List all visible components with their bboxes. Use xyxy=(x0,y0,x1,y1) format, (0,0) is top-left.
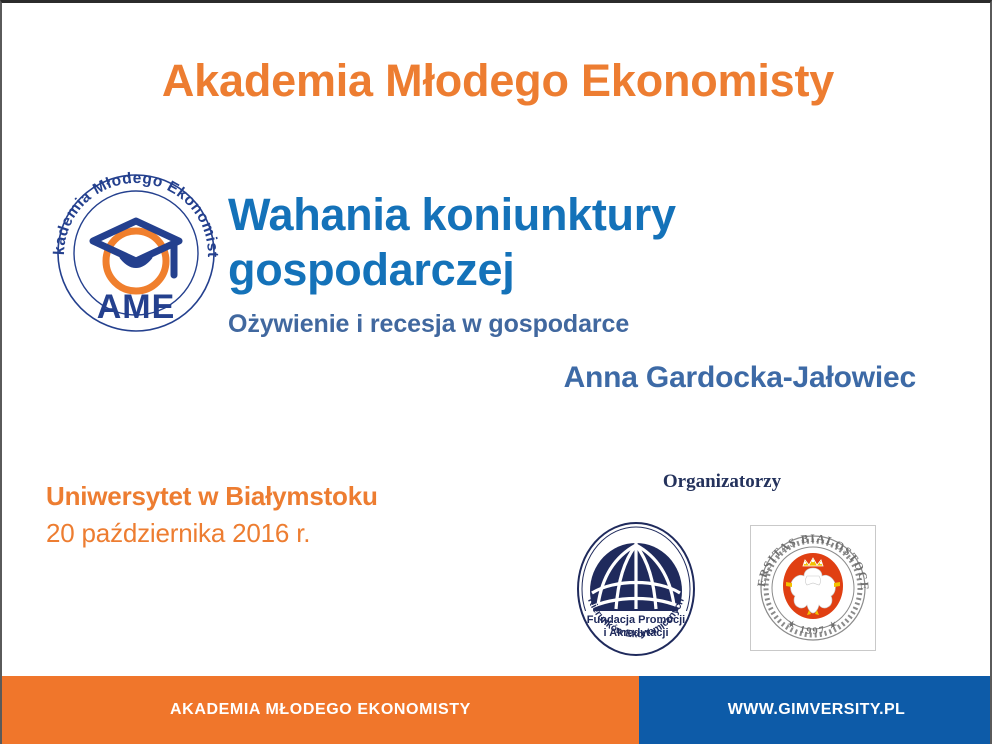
footer-website-label[interactable]: WWW.GIMVERSITY.PL xyxy=(728,701,905,719)
page-title: Akademia Młodego Ekonomisty xyxy=(2,55,992,107)
subtitle: Ożywienie i recesja w gospodarce xyxy=(228,310,928,339)
affiliation-block: Uniwersytet w Białymstoku 20 październik… xyxy=(46,481,378,549)
main-title: Wahania koniunktury gospodarczej xyxy=(228,188,928,298)
footer-left-band: AKADEMIA MŁODEGO EKONOMISTY xyxy=(2,676,639,744)
organizers-label: Organizatorzy xyxy=(602,471,842,493)
event-date: 20 października 2016 r. xyxy=(46,518,378,549)
slide-footer: AKADEMIA MŁODEGO EKONOMISTY WWW.GIMVERSI… xyxy=(2,676,992,744)
svg-text:Akademia Młodego Ekonomisty: Akademia Młodego Ekonomisty xyxy=(46,163,221,258)
author-name: Anna Gardocka-Jałowiec xyxy=(228,361,928,395)
svg-text:AME: AME xyxy=(97,288,176,326)
organizer-logos: Fundacja Promocji i Akredytacji Kierunkó… xyxy=(558,517,898,657)
title-block: Wahania koniunktury gospodarczej Ożywien… xyxy=(228,188,928,395)
presentation-slide: Akademia Młodego Ekonomisty Akademia Mło… xyxy=(0,0,992,744)
footer-right-band[interactable]: WWW.GIMVERSITY.PL xyxy=(639,676,992,744)
footer-brand-label: AKADEMIA MŁODEGO EKONOMISTY xyxy=(170,701,471,719)
affiliation-university: Uniwersytet w Białymstoku xyxy=(46,481,378,512)
uwb-seal-logo: UNIVERSITAS BIALOSTOCENSIS ✶ 1997 ✶ xyxy=(750,525,876,651)
ame-logo: Akademia Młodego Ekonomisty AME xyxy=(46,163,226,343)
fundacja-promocji-logo: Fundacja Promocji i Akredytacji Kierunkó… xyxy=(566,521,706,657)
